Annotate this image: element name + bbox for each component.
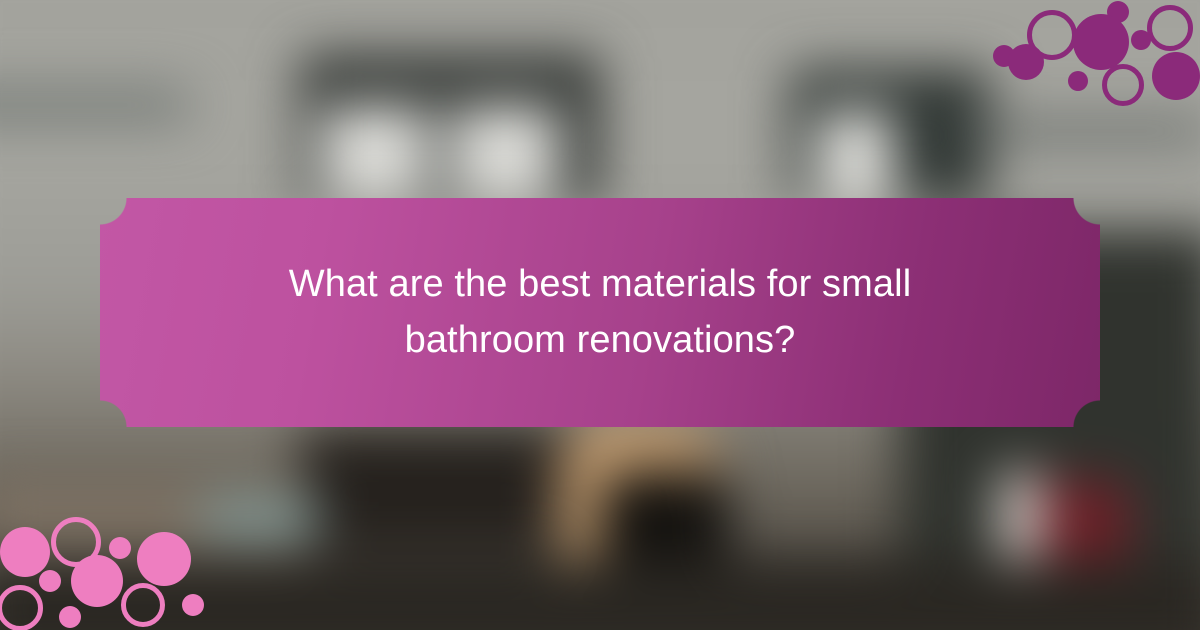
ceiling-fixture-left [0, 90, 190, 120]
teal-object [200, 500, 320, 535]
rail-right [950, 120, 1200, 142]
fixture-right-glass [815, 110, 895, 200]
question-banner: What are the best materials for small ba… [100, 198, 1100, 427]
fixture-mid-glass-b [450, 105, 560, 200]
fixture-mid-glass-a [320, 105, 430, 200]
floor-dark [0, 560, 1200, 630]
social-card: What are the best materials for small ba… [0, 0, 1200, 630]
question-text: What are the best materials for small ba… [250, 257, 950, 367]
